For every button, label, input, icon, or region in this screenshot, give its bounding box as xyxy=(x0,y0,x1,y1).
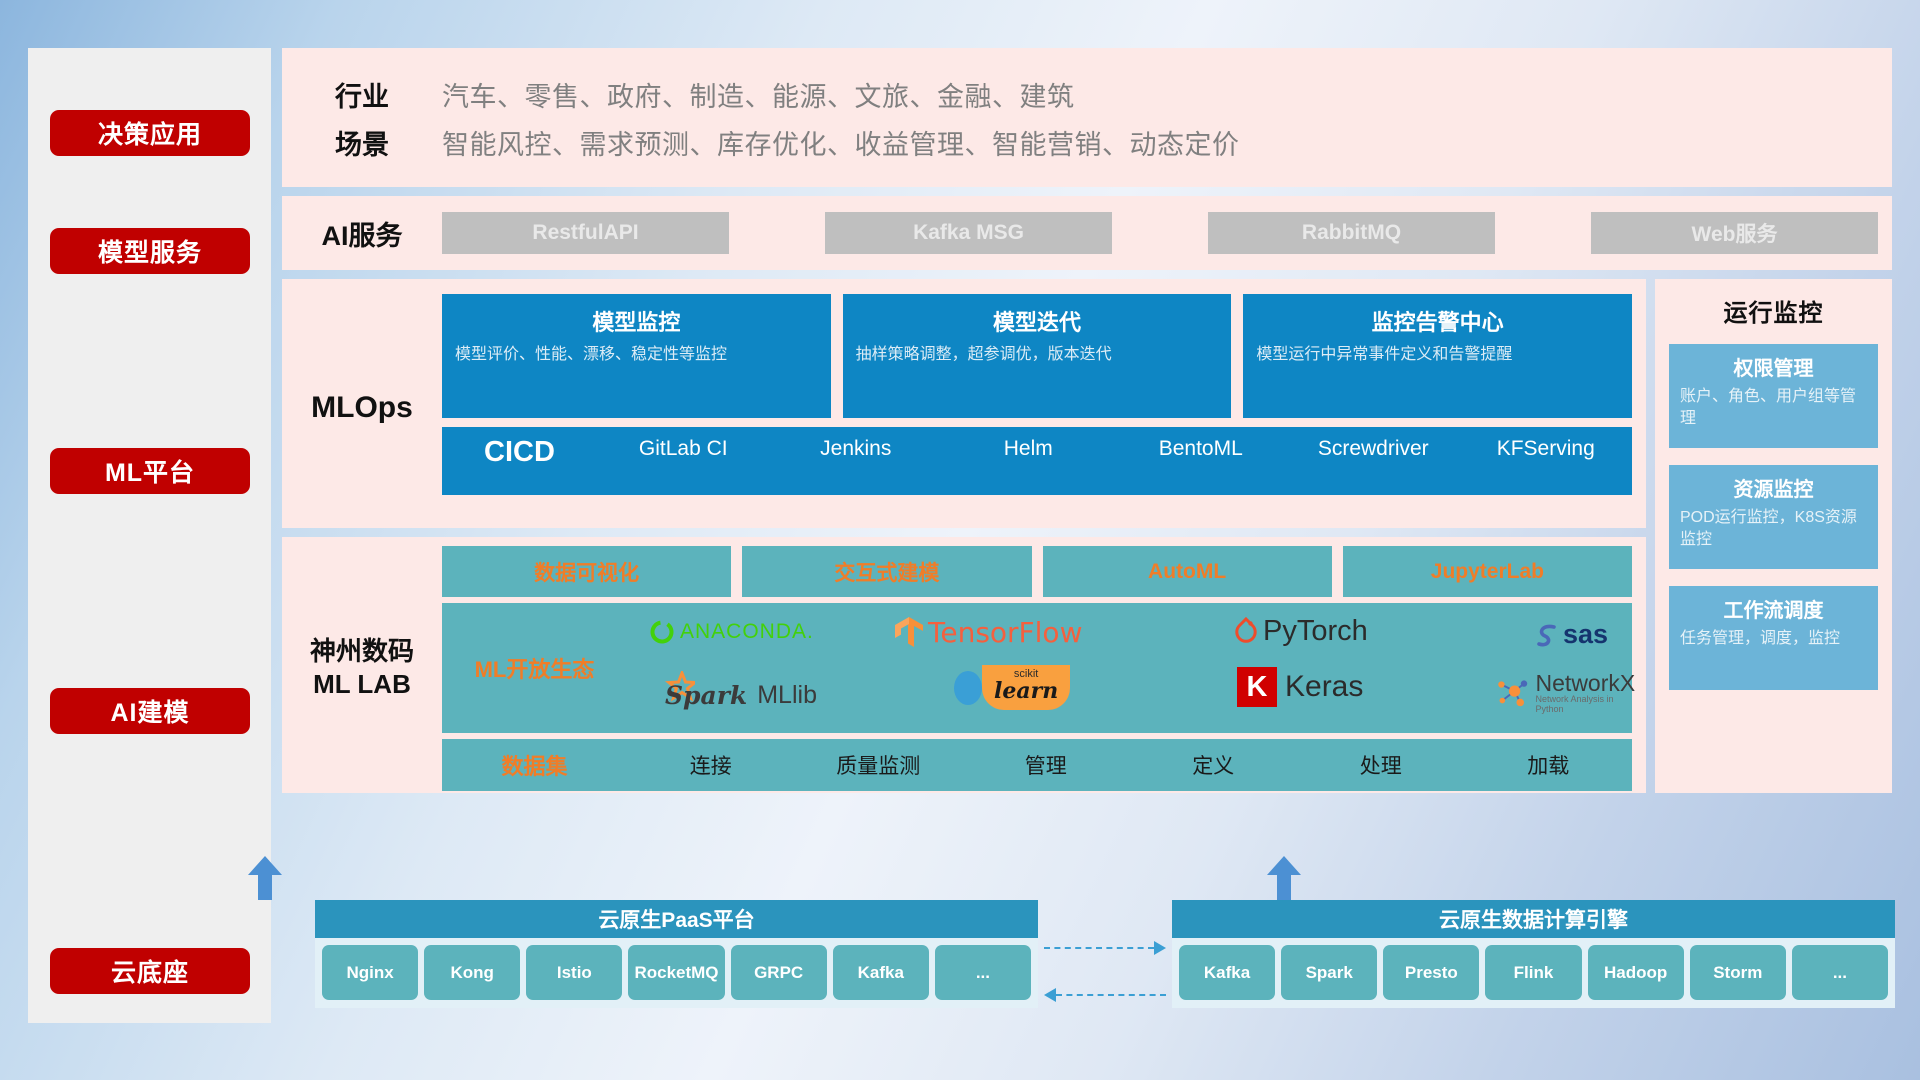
industry-key: 行业 xyxy=(282,75,442,114)
platform-section: MLOps 模型监控 模型评价、性能、漂移、稳定性等监控 模型迭代 抽样策略调整… xyxy=(282,279,1892,793)
sas-logo-text: sas xyxy=(1563,619,1608,650)
pytorch-logo-text: PyTorch xyxy=(1263,615,1368,648)
industry-value: 汽车、零售、政府、制造、能源、文旅、金融、建筑 xyxy=(442,75,1075,114)
mllib-logo-text: MLlib xyxy=(757,681,817,710)
tab-automl[interactable]: AutoML xyxy=(1043,546,1332,597)
decision-apps-band: 行业 汽车、零售、政府、制造、能源、文旅、金融、建筑 场景 智能风控、需求预测、… xyxy=(282,48,1892,187)
card-desc: 账户、角色、用户组等管理 xyxy=(1680,386,1867,430)
rail-item-label: 云底座 xyxy=(111,953,189,989)
paas-chip-istio[interactable]: Istio xyxy=(526,945,622,1000)
cicd-item-gitlab-ci[interactable]: GitLab CI xyxy=(597,436,770,462)
service-chip-web[interactable]: Web服务 xyxy=(1591,212,1878,254)
mlops-card-model-monitoring[interactable]: 模型监控 模型评价、性能、漂移、稳定性等监控 xyxy=(442,294,831,418)
mlops-card-model-iteration[interactable]: 模型迭代 抽样策略调整，超参调优，版本迭代 xyxy=(843,294,1232,418)
dataset-label: 数据集 xyxy=(442,749,627,781)
card-desc: 模型评价、性能、漂移、稳定性等监控 xyxy=(455,344,818,366)
paas-chip-kong[interactable]: Kong xyxy=(424,945,520,1000)
compute-chip-more[interactable]: ... xyxy=(1792,945,1888,1000)
paas-chip-grpc[interactable]: GRPC xyxy=(731,945,827,1000)
scenario-value: 智能风控、需求预测、库存优化、收益管理、智能营销、动态定价 xyxy=(442,123,1240,162)
paas-chip-kafka[interactable]: Kafka xyxy=(833,945,929,1000)
pytorch-logo: PyTorch xyxy=(1232,615,1368,648)
tab-interactive-modeling[interactable]: 交互式建模 xyxy=(742,546,1031,597)
anaconda-logo-text: ANACONDA. xyxy=(680,620,814,644)
dashed-arrow-left-icon xyxy=(1044,990,1166,1000)
paas-chip-list: Nginx Kong Istio RocketMQ GRPC Kafka ... xyxy=(315,938,1038,1008)
anaconda-logo: ANACONDA. xyxy=(649,619,814,645)
dataset-item-define[interactable]: 定义 xyxy=(1130,750,1298,780)
compute-chip-presto[interactable]: Presto xyxy=(1383,945,1479,1000)
cicd-bar: CICD GitLab CI Jenkins Helm BentoML Scre… xyxy=(442,427,1632,495)
service-chip-kafka-msg[interactable]: Kafka MSG xyxy=(825,212,1112,254)
paas-chip-nginx[interactable]: Nginx xyxy=(322,945,418,1000)
cloud-link-arrows xyxy=(1038,900,1172,1010)
paas-platform: 云原生PaaS平台 Nginx Kong Istio RocketMQ GRPC… xyxy=(315,900,1038,1008)
card-title: 工作流调度 xyxy=(1680,594,1867,623)
dataset-row: 数据集 连接 质量监测 管理 定义 处理 加载 xyxy=(442,739,1632,791)
rail-item-ml-platform[interactable]: ML平台 xyxy=(50,448,250,494)
cicd-item-screwdriver[interactable]: Screwdriver xyxy=(1287,436,1460,462)
ml-lab-key-line2: ML LAB xyxy=(282,668,442,701)
compute-chip-spark[interactable]: Spark xyxy=(1281,945,1377,1000)
ai-services-band: AI服务 RestfulAPI Kafka MSG RabbitMQ Web服务 xyxy=(282,196,1892,270)
networkx-logo: NetworkX Network Analysis in Python xyxy=(1492,671,1638,714)
compute-chip-flink[interactable]: Flink xyxy=(1485,945,1581,1000)
dataset-item-process[interactable]: 处理 xyxy=(1297,750,1465,780)
keras-logo-text: Keras xyxy=(1285,670,1363,704)
card-title: 监控告警中心 xyxy=(1256,305,1619,337)
dashed-arrow-right-icon xyxy=(1044,943,1166,953)
card-title: 资源监控 xyxy=(1680,473,1867,502)
data-compute-engine: 云原生数据计算引擎 Kafka Spark Presto Flink Hadoo… xyxy=(1172,900,1895,1008)
keras-logo: K Keras xyxy=(1237,667,1363,707)
rail-item-cloud-base[interactable]: 云底座 xyxy=(50,948,250,994)
card-desc: POD运行监控，K8S资源监控 xyxy=(1680,507,1867,551)
compute-chip-list: Kafka Spark Presto Flink Hadoop Storm ..… xyxy=(1172,938,1895,1008)
rail-item-label: ML平台 xyxy=(105,453,195,489)
sas-logo: sas xyxy=(1532,619,1608,650)
cicd-item-bentoml[interactable]: BentoML xyxy=(1115,436,1288,462)
cicd-item-kfserving[interactable]: KFServing xyxy=(1460,436,1633,462)
compute-title: 云原生数据计算引擎 xyxy=(1172,900,1895,938)
paas-title: 云原生PaaS平台 xyxy=(315,900,1038,938)
compute-chip-kafka[interactable]: Kafka xyxy=(1179,945,1275,1000)
ml-ecosystem-logos: ANACONDA. TensorFlow xyxy=(627,603,1632,733)
service-chip-rabbitmq[interactable]: RabbitMQ xyxy=(1208,212,1495,254)
tab-data-visualization[interactable]: 数据可视化 xyxy=(442,546,731,597)
ai-services-list: RestfulAPI Kafka MSG RabbitMQ Web服务 xyxy=(442,212,1892,254)
run-monitor-title: 运行监控 xyxy=(1669,293,1878,328)
ml-ecosystem-label: ML开放生态 xyxy=(442,652,627,684)
compute-chip-hadoop[interactable]: Hadoop xyxy=(1588,945,1684,1000)
cicd-title: CICD xyxy=(442,436,597,469)
rail-item-label: 模型服务 xyxy=(98,233,202,269)
networkx-logo-text: NetworkX xyxy=(1536,671,1638,695)
tab-jupyterlab[interactable]: JupyterLab xyxy=(1343,546,1632,597)
service-chip-restfulapi[interactable]: RestfulAPI xyxy=(442,212,729,254)
tensorflow-logo: TensorFlow xyxy=(892,615,1082,649)
industry-row: 行业 汽车、零售、政府、制造、能源、文旅、金融、建筑 xyxy=(282,70,1892,118)
dataset-item-load[interactable]: 加载 xyxy=(1465,750,1633,780)
compute-chip-storm[interactable]: Storm xyxy=(1690,945,1786,1000)
rail-item-label: 决策应用 xyxy=(98,115,202,151)
ai-services-key: AI服务 xyxy=(282,214,442,253)
card-title: 模型监控 xyxy=(455,305,818,337)
tensorflow-logo-text: TensorFlow xyxy=(928,616,1082,649)
dataset-item-list: 连接 质量监测 管理 定义 处理 加载 xyxy=(627,750,1632,780)
dataset-item-manage[interactable]: 管理 xyxy=(962,750,1130,780)
mlops-card-alert-center[interactable]: 监控告警中心 模型运行中异常事件定义和告警提醒 xyxy=(1243,294,1632,418)
cicd-item-helm[interactable]: Helm xyxy=(942,436,1115,462)
layer-rail: 决策应用 模型服务 ML平台 AI建模 云底座 xyxy=(28,48,271,1023)
rail-item-decision-apps[interactable]: 决策应用 xyxy=(50,110,250,156)
mlops-band: MLOps 模型监控 模型评价、性能、漂移、稳定性等监控 模型迭代 抽样策略调整… xyxy=(282,279,1646,528)
card-desc: 抽样策略调整，超参调优，版本迭代 xyxy=(856,344,1219,366)
scikit-learn-logo: scikit learn xyxy=(952,665,1070,710)
cicd-item-jenkins[interactable]: Jenkins xyxy=(770,436,943,462)
scenario-key: 场景 xyxy=(282,123,442,162)
dataset-item-quality-monitor[interactable]: 质量监测 xyxy=(795,750,963,780)
monitor-card-workflow[interactable]: 工作流调度 任务管理，调度，监控 xyxy=(1669,586,1878,690)
rail-item-label: AI建模 xyxy=(110,693,189,729)
monitor-card-permission[interactable]: 权限管理 账户、角色、用户组等管理 xyxy=(1669,344,1878,448)
rail-item-model-service[interactable]: 模型服务 xyxy=(50,228,250,274)
card-desc: 模型运行中异常事件定义和告警提醒 xyxy=(1256,344,1619,366)
monitor-card-resource[interactable]: 资源监控 POD运行监控，K8S资源监控 xyxy=(1669,465,1878,569)
cloud-base-section: 云原生PaaS平台 Nginx Kong Istio RocketMQ GRPC… xyxy=(315,900,1895,1022)
spark-mllib-logo: Spark MLlib xyxy=(655,669,817,710)
ml-lab-band: 神州数码 ML LAB 数据可视化 交互式建模 AutoML JupyterLa… xyxy=(282,537,1646,793)
run-monitor-panel: 运行监控 权限管理 账户、角色、用户组等管理 资源监控 POD运行监控，K8S资… xyxy=(1655,279,1892,793)
paas-chip-more[interactable]: ... xyxy=(935,945,1031,1000)
up-arrow-compute-icon xyxy=(1267,856,1301,900)
ml-lab-key-line1: 神州数码 xyxy=(282,635,442,668)
scenario-row: 场景 智能风控、需求预测、库存优化、收益管理、智能营销、动态定价 xyxy=(282,118,1892,166)
ml-lab-key: 神州数码 ML LAB xyxy=(282,537,442,700)
rail-item-ai-modeling[interactable]: AI建模 xyxy=(50,688,250,734)
networkx-logo-tagline: Network Analysis in Python xyxy=(1536,695,1638,714)
scikit-learn-logo-text: learn xyxy=(994,680,1058,702)
card-title: 模型迭代 xyxy=(856,305,1219,337)
mlops-card-list: 模型监控 模型评价、性能、漂移、稳定性等监控 模型迭代 抽样策略调整，超参调优，… xyxy=(442,294,1632,418)
card-desc: 任务管理，调度，监控 xyxy=(1680,628,1867,650)
card-title: 权限管理 xyxy=(1680,352,1867,381)
paas-chip-rocketmq[interactable]: RocketMQ xyxy=(628,945,724,1000)
up-arrow-paas-icon xyxy=(248,856,282,900)
mlops-key: MLOps xyxy=(282,279,442,425)
ml-ecosystem-row: ML开放生态 ANACONDA. xyxy=(442,603,1632,733)
ml-lab-tab-list: 数据可视化 交互式建模 AutoML JupyterLab xyxy=(442,546,1632,597)
cicd-item-list: GitLab CI Jenkins Helm BentoML Screwdriv… xyxy=(597,436,1632,462)
dataset-item-connect[interactable]: 连接 xyxy=(627,750,795,780)
